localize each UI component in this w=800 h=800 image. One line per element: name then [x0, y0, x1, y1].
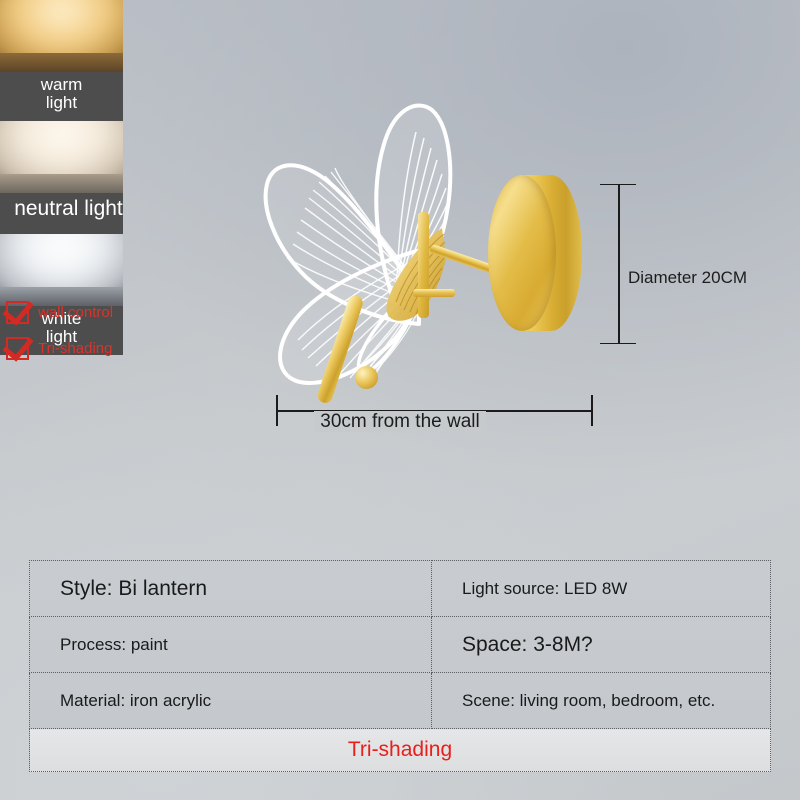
lamp-cross-bar — [413, 289, 455, 297]
color-temperature-option-neutral-light[interactable]: neutral light — [0, 121, 123, 234]
spec-footer-tri-shading: Tri-shading — [30, 729, 771, 772]
table-row: Style: Bi lantern Light source: LED 8W — [30, 561, 771, 617]
feature-tri-shading[interactable]: Tri-shading — [6, 336, 186, 360]
warm-light-label: warm light — [0, 72, 123, 121]
checkmark-icon — [6, 301, 29, 324]
projection-dimension-label: 30cm from the wall — [0, 411, 800, 433]
diameter-dimension-line — [618, 184, 620, 344]
spec-process: Process: paint — [30, 617, 432, 673]
product-image-canvas: warm light neutral light white light wal… — [0, 0, 800, 800]
butterfly-thorax-gold-fan — [366, 222, 456, 334]
warm-light-preview-photo — [0, 0, 123, 72]
spec-style: Style: Bi lantern — [30, 561, 432, 617]
diameter-dimension-label: Diameter 20CM — [628, 268, 747, 288]
feature-tri-shading-label: Tri-shading — [38, 340, 112, 357]
table-row: Material: iron acrylic Scene: living roo… — [30, 673, 771, 729]
spec-space: Space: 3-8M? — [432, 617, 771, 673]
table-row: Process: paint Space: 3-8M? — [30, 617, 771, 673]
color-temperature-option-warm-light[interactable]: warm light — [0, 0, 123, 121]
spec-scene: Scene: living room, bedroom, etc. — [432, 673, 771, 729]
table-footer-row: Tri-shading — [30, 729, 771, 772]
spec-light-source: Light source: LED 8W — [432, 561, 771, 617]
feature-checkbox-list: wall control Tri-shading — [6, 300, 186, 372]
neutral-light-preview-photo — [0, 121, 123, 193]
color-temperature-strip: warm light neutral light white light — [0, 0, 123, 292]
feature-wall-control[interactable]: wall control — [6, 300, 186, 324]
neutral-light-label: neutral light — [0, 193, 123, 234]
spec-material: Material: iron acrylic — [30, 673, 432, 729]
checkmark-icon — [6, 337, 29, 360]
diameter-dimension-tick-bottom — [600, 343, 636, 344]
diameter-dimension-tick-top — [600, 184, 636, 185]
feature-wall-control-label: wall control — [38, 304, 113, 321]
butterfly-body-end-cap — [355, 366, 378, 389]
lamp-vertical-bracket — [418, 212, 429, 318]
wall-mount-disc-face — [488, 175, 556, 331]
specification-table: Style: Bi lantern Light source: LED 8W P… — [29, 560, 771, 772]
butterfly-wall-lamp-illustration — [258, 100, 638, 420]
